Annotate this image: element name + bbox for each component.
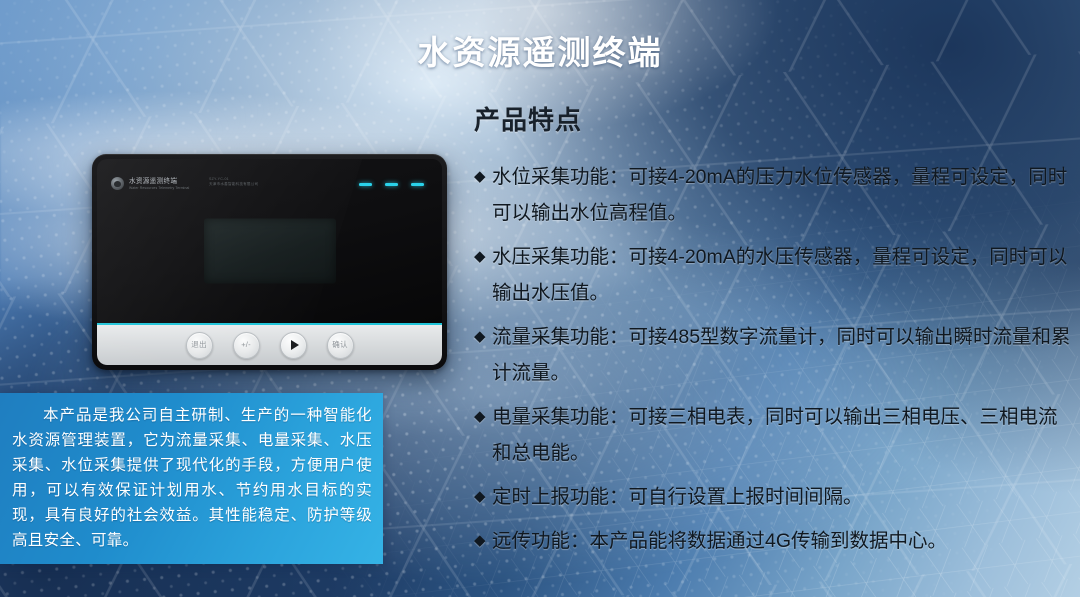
product-description-box: 本产品是我公司自主研制、生产的一种智能化水资源管理装置，它为流量采集、电量采集、… [0, 393, 383, 564]
features-heading: 产品特点 [474, 100, 1074, 137]
feature-item-text: 水压采集功能：可接4-20mA的水压传感器，量程可设定，同时可以输出水压值。 [492, 239, 1074, 311]
product-device-image: 水资源遥测终端 Water Resources Telemetry Termin… [92, 154, 447, 370]
page-title: 水资源遥测终端 [0, 26, 1080, 74]
device-brand: 水资源遥测终端 Water Resources Telemetry Termin… [111, 177, 189, 190]
company-logo-icon [111, 177, 124, 190]
feature-item-text: 定时上报功能：可自行设置上报时间间隔。 [492, 479, 1074, 515]
feature-item-text: 远传功能：本产品能将数据通过4G传输到数据中心。 [492, 523, 1074, 559]
bullet-diamond-icon: ◆ [474, 479, 492, 515]
bullet-diamond-icon: ◆ [474, 159, 492, 195]
device-model: SZY-YC-01 [209, 177, 258, 181]
status-led-indicator [385, 183, 398, 186]
feature-item-text: 水位采集功能：可接4-20mA的压力水位传感器，量程可设定，同时可以输出水位高程… [492, 159, 1074, 231]
product-description-text: 本产品是我公司自主研制、生产的一种智能化水资源管理装置，它为流量采集、电量采集、… [12, 403, 372, 553]
device-body: 水资源遥测终端 Water Resources Telemetry Termin… [92, 154, 447, 370]
status-led-indicator [359, 183, 372, 186]
status-led-indicator [411, 183, 424, 186]
bullet-diamond-icon: ◆ [474, 239, 492, 275]
bullet-diamond-icon: ◆ [474, 523, 492, 559]
feature-item: ◆水压采集功能：可接4-20mA的水压传感器，量程可设定，同时可以输出水压值。 [474, 239, 1074, 311]
feature-item: ◆水位采集功能：可接4-20mA的压力水位传感器，量程可设定，同时可以输出水位高… [474, 159, 1074, 231]
feature-item: ◆流量采集功能：可接485型数字流量计，同时可以输出瞬时流量和累计流量。 [474, 319, 1074, 391]
device-brand-en: Water Resources Telemetry Terminal [129, 186, 189, 190]
bullet-diamond-icon: ◆ [474, 399, 492, 435]
device-meta: SZY-YC-01 天津市水善智能科技有限公司 [209, 177, 258, 186]
bullet-diamond-icon: ◆ [474, 319, 492, 355]
device-lcd-screen [204, 218, 336, 283]
device-brand-cn: 水资源遥测终端 [129, 178, 189, 185]
feature-item: ◆定时上报功能：可自行设置上报时间间隔。 [474, 479, 1074, 515]
device-front-panel: 水资源遥测终端 Water Resources Telemetry Termin… [97, 159, 442, 325]
play-icon [291, 340, 299, 350]
features-list: ◆水位采集功能：可接4-20mA的压力水位传感器，量程可设定，同时可以输出水位高… [474, 159, 1074, 559]
device-plusminus-button[interactable]: +/- [233, 332, 260, 359]
device-button-bar: 退出 +/- 确认 [97, 325, 442, 365]
product-features-section: 产品特点 ◆水位采集功能：可接4-20mA的压力水位传感器，量程可设定，同时可以… [474, 100, 1074, 567]
device-face: 水资源遥测终端 Water Resources Telemetry Termin… [97, 159, 442, 365]
feature-item-text: 流量采集功能：可接485型数字流量计，同时可以输出瞬时流量和累计流量。 [492, 319, 1074, 391]
device-company: 天津市水善智能科技有限公司 [209, 182, 258, 186]
device-status-leds [359, 183, 424, 186]
brand-names: 水资源遥测终端 Water Resources Telemetry Termin… [129, 178, 189, 190]
device-exit-button[interactable]: 退出 [186, 332, 213, 359]
feature-item-text: 电量采集功能：可接三相电表，同时可以输出三相电压、三相电流和总电能。 [492, 399, 1074, 471]
device-play-button[interactable] [280, 332, 307, 359]
device-confirm-button[interactable]: 确认 [327, 332, 354, 359]
feature-item: ◆远传功能：本产品能将数据通过4G传输到数据中心。 [474, 523, 1074, 559]
feature-item: ◆电量采集功能：可接三相电表，同时可以输出三相电压、三相电流和总电能。 [474, 399, 1074, 471]
slide-canvas: 水资源遥测终端 水资源遥测终端 Water Resources Telemetr… [0, 0, 1080, 597]
